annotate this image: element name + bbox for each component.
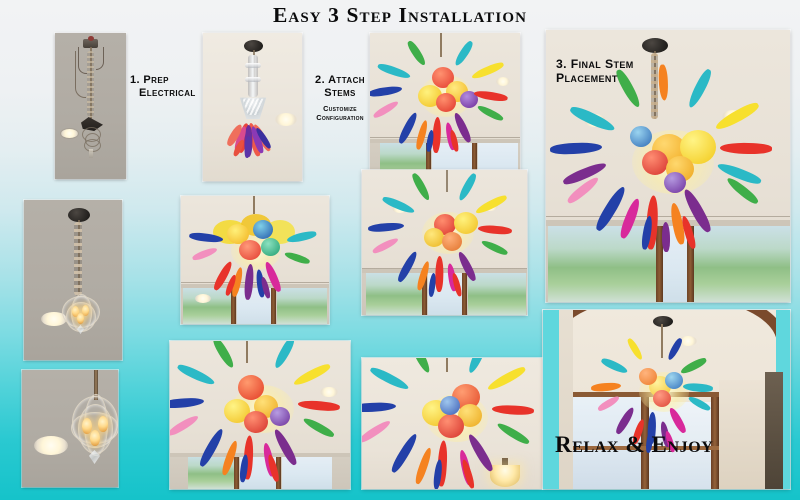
photo-frame-pendant-closeup [22,370,118,487]
caption-step-1: 1. Prep Electrical [130,62,196,111]
photo-relax-enjoy [543,310,790,489]
photo-prep-electrical [55,33,126,179]
caption-step-2: 2. Attach Stems Customize Configuration [305,62,375,135]
photo-frame-pendant-chain [24,200,122,360]
caption-step-3: 3. Final Stem Placement [556,58,634,85]
caption-step-1-line-1: 1. Prep [130,74,169,86]
photo-chandelier-top-center [370,33,520,181]
poster-canvas: Easy 3 Step Installation [0,0,800,500]
caption-step-2-title: 2. Attach Stems [315,74,365,98]
caption-step-2-subtitle: Customize Configuration [305,104,375,123]
page-title: Easy 3 Step Installation [0,3,800,28]
photo-stems-mid-assembly [181,196,329,324]
photo-chandelier-mid-center [362,170,527,315]
photo-chandelier-bottom-center [362,358,542,489]
photo-chandelier-bottom-left [170,341,350,489]
photo-attach-stems [203,33,302,181]
caption-relax-enjoy: Relax & Enjoy [555,432,713,458]
caption-step-1-line-2: Electrical [130,87,196,99]
